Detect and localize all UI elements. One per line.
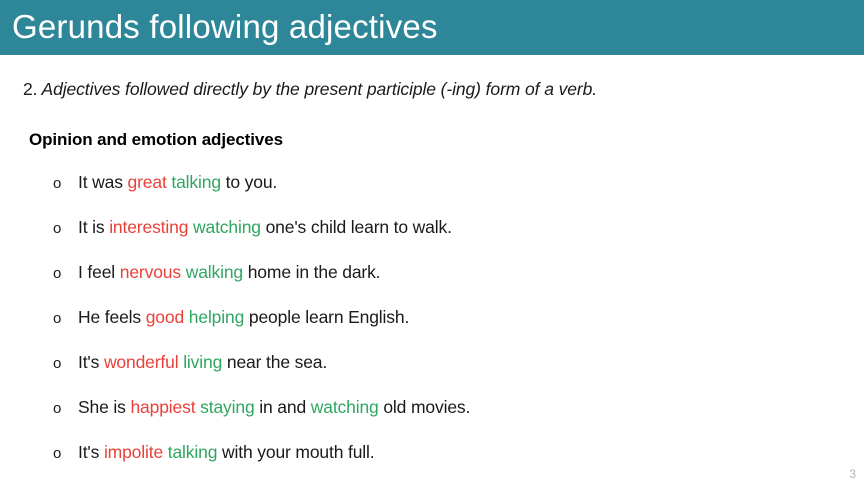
adjective-highlight: impolite (104, 442, 163, 462)
gerund-highlight: watching (311, 397, 379, 417)
bullet-circle-icon: o (53, 399, 69, 419)
bullet-circle-icon: o (53, 174, 69, 194)
bullet-circle-icon: o (53, 444, 69, 464)
gerund-highlight: watching (193, 217, 261, 237)
plain-text: old movies. (379, 397, 471, 417)
slide-title: Gerunds following adjectives (12, 5, 438, 49)
plain-text: to you. (221, 172, 277, 192)
list-item: oShe is happiest staying in and watching… (0, 395, 864, 440)
bullet-circle-icon: o (53, 309, 69, 329)
bullet-list: oIt was great talking to you.oIt is inte… (0, 170, 864, 485)
plain-text: She is (78, 397, 130, 417)
list-item: oIt was great talking to you. (0, 170, 864, 215)
gerund-highlight: walking (186, 262, 243, 282)
gerund-highlight: living (183, 352, 222, 372)
list-item: oIt is interesting watching one's child … (0, 215, 864, 260)
bullet-circle-icon: o (53, 219, 69, 239)
gerund-highlight: talking (168, 442, 218, 462)
list-item: oI feel nervous walking home in the dark… (0, 260, 864, 305)
page-number: 3 (849, 466, 856, 482)
title-band: Gerunds following adjectives (0, 0, 864, 55)
slide-canvas: Gerunds following adjectives 2. Adjectiv… (0, 0, 864, 486)
list-item: oIt's wonderful living near the sea. (0, 350, 864, 395)
adjective-highlight: good (146, 307, 184, 327)
plain-text: home in the dark. (243, 262, 380, 282)
plain-text: It's (78, 442, 104, 462)
adjective-highlight: happiest (130, 397, 195, 417)
plain-text: near the sea. (222, 352, 327, 372)
plain-text: It is (78, 217, 109, 237)
subtitle-line: 2. Adjectives followed directly by the p… (23, 77, 597, 101)
list-item-text: It is interesting watching one's child l… (78, 215, 452, 239)
list-item-text: It was great talking to you. (78, 170, 277, 194)
plain-text: people learn English. (244, 307, 409, 327)
list-item: oIt's impolite talking with your mouth f… (0, 440, 864, 485)
bullet-circle-icon: o (53, 264, 69, 284)
adjective-highlight: great (128, 172, 167, 192)
plain-text: It's (78, 352, 104, 372)
list-item-text: It's wonderful living near the sea. (78, 350, 327, 374)
adjective-highlight: wonderful (104, 352, 179, 372)
adjective-highlight: nervous (120, 262, 181, 282)
list-item: oHe feels good helping people learn Engl… (0, 305, 864, 350)
gerund-highlight: helping (189, 307, 244, 327)
plain-text: with your mouth full. (217, 442, 374, 462)
bullet-circle-icon: o (53, 354, 69, 374)
plain-text: I feel (78, 262, 120, 282)
list-item-text: It's impolite talking with your mouth fu… (78, 440, 375, 464)
plain-text: It was (78, 172, 128, 192)
subtitle-number: 2. (23, 79, 37, 99)
group-heading: Opinion and emotion adjectives (29, 128, 283, 152)
subtitle-text: Adjectives followed directly by the pres… (42, 79, 597, 99)
plain-text: in and (255, 397, 311, 417)
plain-text: one's child learn to walk. (261, 217, 452, 237)
adjective-highlight: interesting (109, 217, 188, 237)
list-item-text: I feel nervous walking home in the dark. (78, 260, 380, 284)
list-item-text: She is happiest staying in and watching … (78, 395, 470, 419)
gerund-highlight: talking (171, 172, 221, 192)
plain-text: He feels (78, 307, 146, 327)
gerund-highlight: staying (200, 397, 254, 417)
list-item-text: He feels good helping people learn Engli… (78, 305, 409, 329)
